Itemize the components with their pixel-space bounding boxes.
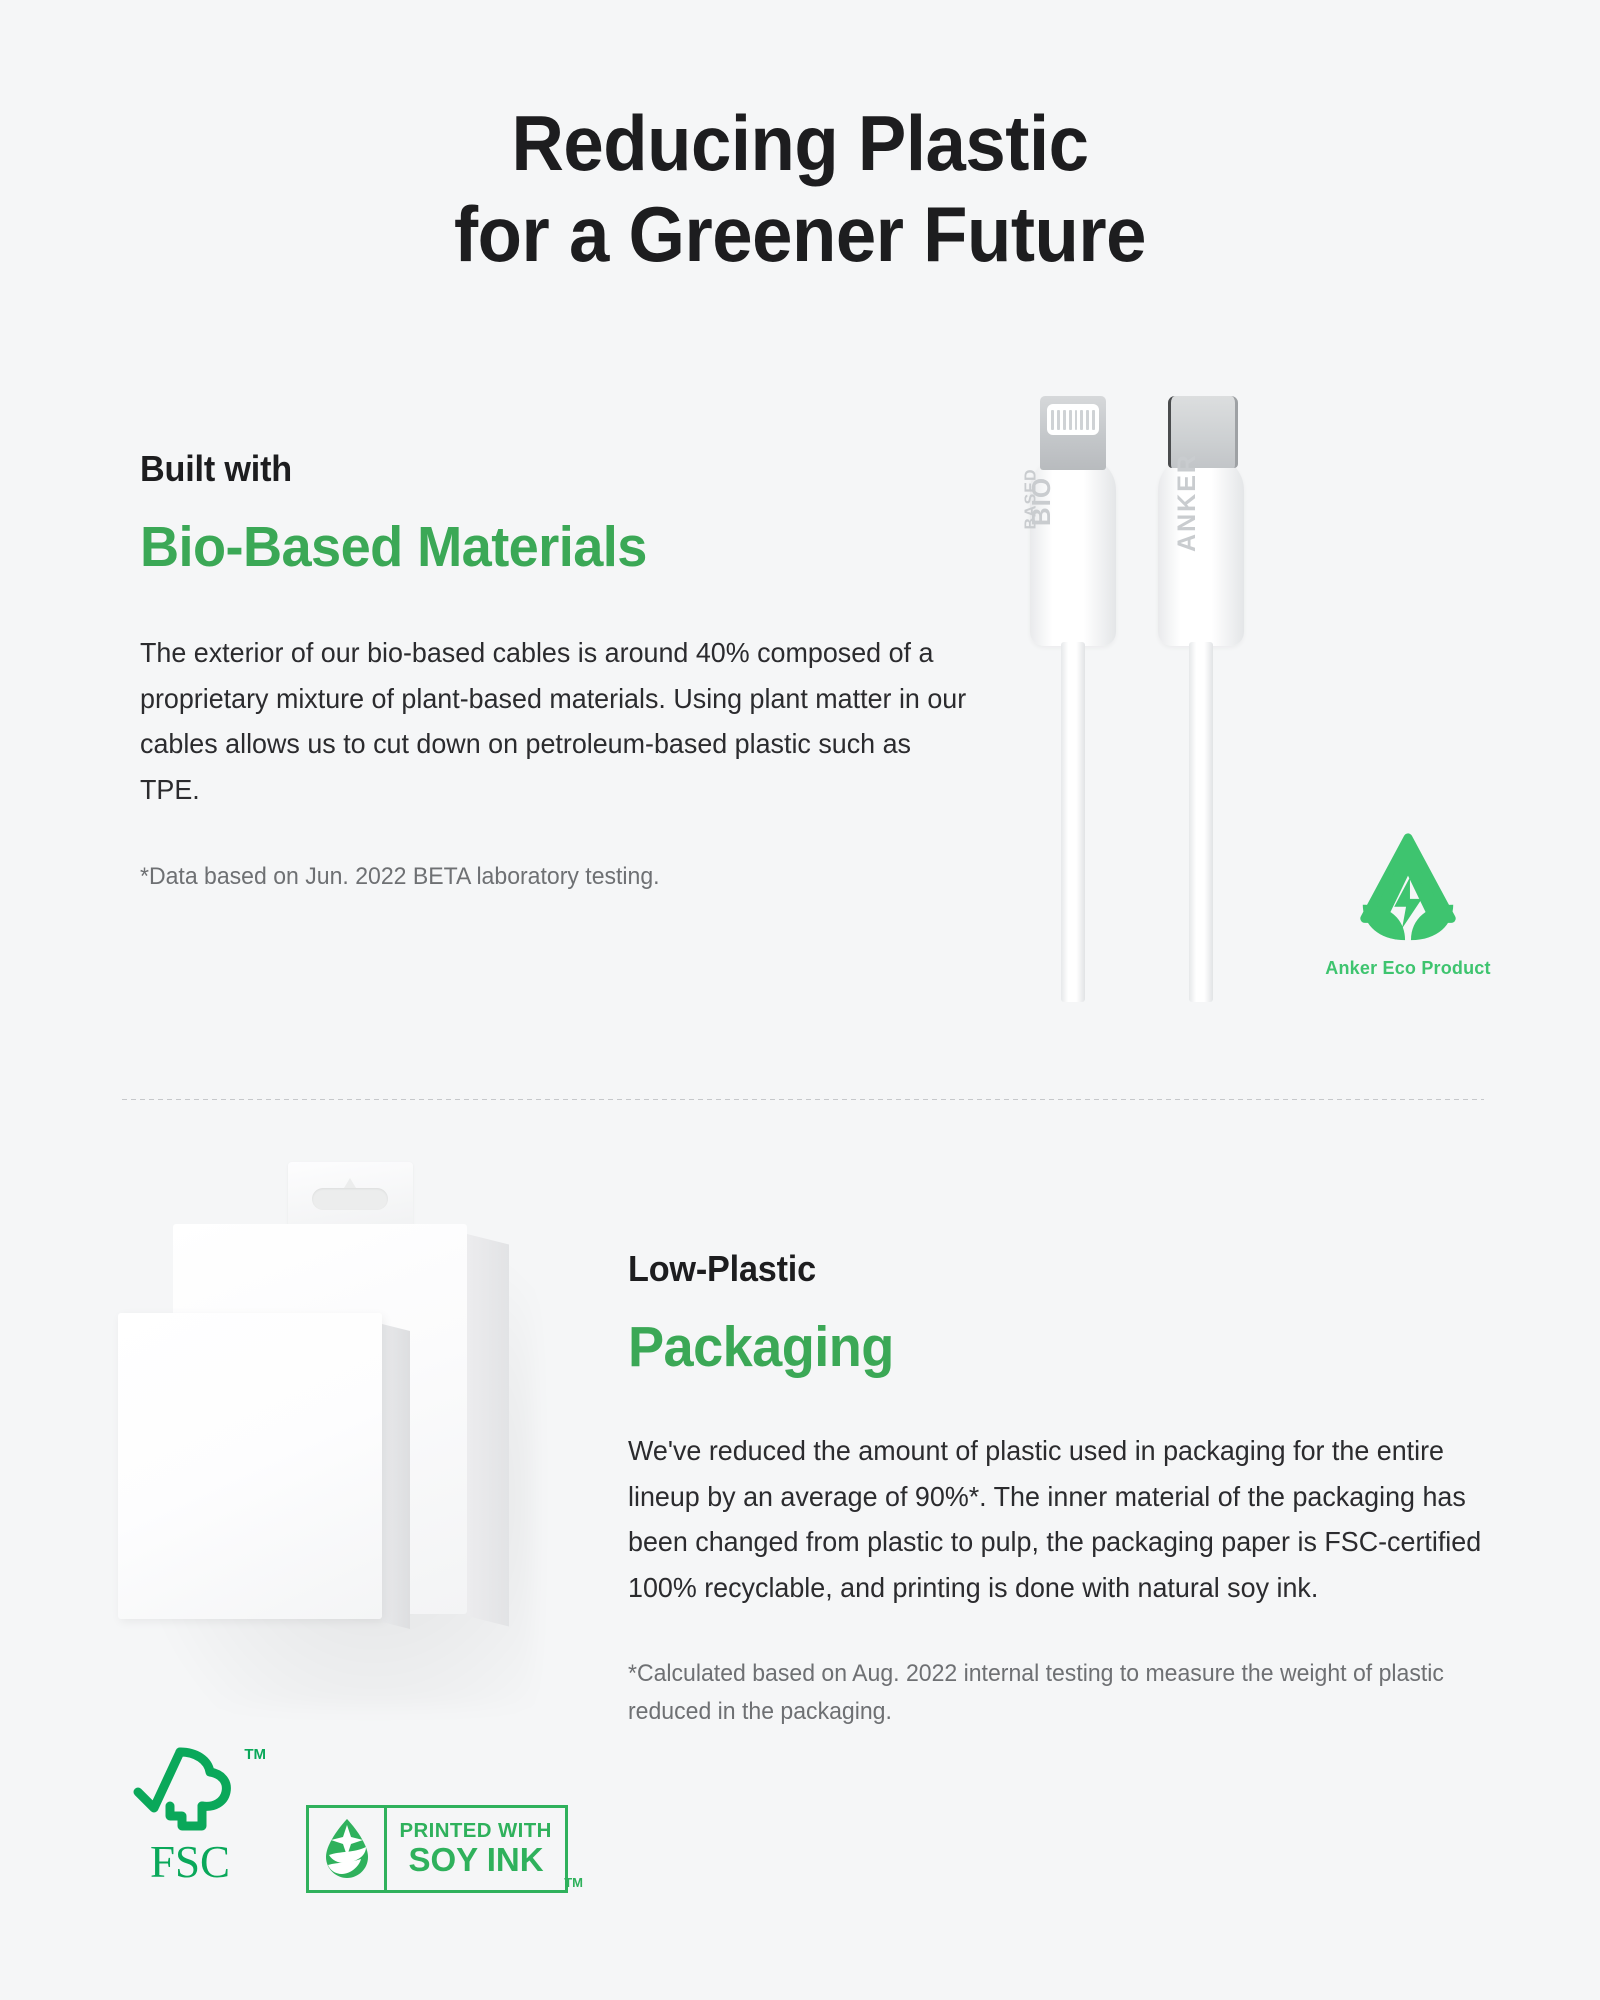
soybean-droplet-icon bbox=[320, 1817, 374, 1881]
fsc-trademark-mark: TM bbox=[244, 1746, 266, 1763]
packaging-kicker: Low-Plastic bbox=[628, 1248, 1502, 1290]
soy-ink-text-cell: PRINTED WITH SOY INK bbox=[387, 1808, 565, 1890]
packaging-inner-tray bbox=[118, 1313, 382, 1619]
packaging-hang-tab bbox=[288, 1162, 413, 1228]
title-line-2: for a Greener Future bbox=[56, 189, 1544, 280]
cable-label-anker: ANKER bbox=[1173, 453, 1202, 552]
packaging-section: Low-Plastic Packaging We've reduced the … bbox=[628, 1248, 1548, 1731]
soy-ink-line-1: PRINTED WITH bbox=[400, 1821, 552, 1841]
soy-ink-line-2: SOY INK bbox=[408, 1843, 543, 1878]
packaging-box-image bbox=[118, 1158, 558, 1718]
infographic-page: Reducing Plastic for a Greener Future Bu… bbox=[0, 0, 1600, 2000]
soy-ink-trademark-mark: TM bbox=[564, 1875, 583, 1890]
lightning-pins bbox=[1047, 404, 1099, 435]
bio-headline: Bio-Based Materials bbox=[140, 514, 957, 580]
bio-body-text: The exterior of our bio-based cables is … bbox=[140, 630, 975, 813]
packaging-body-text: We've reduced the amount of plastic used… bbox=[628, 1428, 1521, 1611]
fsc-wordmark: FSC bbox=[130, 1836, 250, 1888]
packaging-footnote: *Calculated based on Aug. 2022 internal … bbox=[628, 1655, 1511, 1732]
packaging-outer-box-side bbox=[467, 1234, 509, 1626]
page-title: Reducing Plastic for a Greener Future bbox=[0, 98, 1600, 281]
title-line-1: Reducing Plastic bbox=[56, 98, 1544, 189]
bio-footnote: *Data based on Jun. 2022 BETA laboratory… bbox=[140, 863, 966, 891]
bio-kicker: Built with bbox=[140, 448, 957, 490]
bio-cable-image: BIO BASED ANKER bbox=[1010, 390, 1310, 1030]
fsc-certification-logo: TM FSC bbox=[130, 1740, 250, 1890]
eco-badge-label: Anker Eco Product bbox=[1318, 958, 1498, 979]
usbc-cable-shaft bbox=[1189, 642, 1213, 1002]
soy-ink-certification-logo: PRINTED WITH SOY INK TM bbox=[306, 1805, 568, 1893]
fsc-tree-checkmark-icon bbox=[130, 1740, 250, 1840]
packaging-inner-tray-side bbox=[382, 1324, 410, 1629]
packaging-headline: Packaging bbox=[628, 1314, 1502, 1380]
anker-eco-product-badge: Anker Eco Product bbox=[1318, 830, 1498, 979]
soy-ink-icon-cell bbox=[309, 1808, 387, 1890]
lightning-cable-shaft bbox=[1061, 642, 1085, 1002]
cable-label-based: BASED bbox=[1023, 468, 1041, 529]
eco-leaf-lightning-icon bbox=[1349, 830, 1467, 948]
section-divider bbox=[122, 1099, 1484, 1100]
lightning-tip-icon bbox=[1040, 396, 1106, 470]
bio-materials-section: Built with Bio-Based Materials The exter… bbox=[140, 448, 1000, 891]
